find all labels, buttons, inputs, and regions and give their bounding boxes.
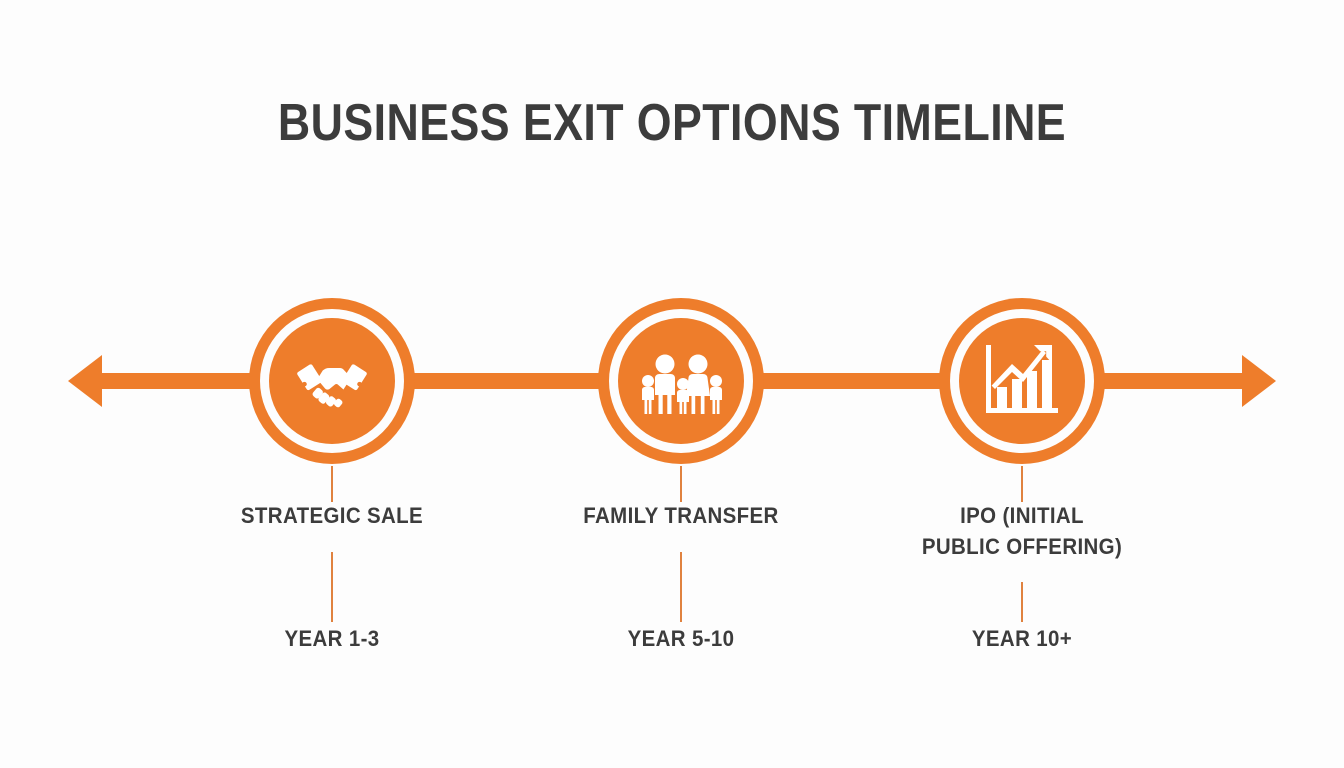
milestone-strategic-sale[interactable]: STRATEGIC SALE YEAR 1-3: [172, 0, 492, 768]
circle-gap-ring: [260, 309, 404, 453]
growth-chart-icon: [982, 343, 1062, 419]
milestone-label: STRATEGIC SALE: [183, 500, 481, 531]
milestone-ipo[interactable]: IPO (INITIAL PUBLIC OFFERING) YEAR 10+: [862, 0, 1182, 768]
circle-inner-disc: [269, 318, 395, 444]
circle-gap-ring: [950, 309, 1094, 453]
connector-circle-to-label: [331, 466, 333, 502]
connector-label-to-year: [331, 552, 333, 622]
milestone-year: YEAR 1-3: [183, 624, 481, 654]
connector-label-to-year: [1021, 582, 1023, 622]
milestone-label-line2: PUBLIC OFFERING): [922, 534, 1122, 559]
connector-circle-to-label: [680, 466, 682, 502]
milestone-circle[interactable]: [598, 298, 764, 464]
circle-gap-ring: [609, 309, 753, 453]
connector-label-to-year: [680, 552, 682, 622]
connector-circle-to-label: [1021, 466, 1023, 502]
milestone-year: YEAR 5-10: [532, 624, 830, 654]
circle-inner-disc: [959, 318, 1085, 444]
milestone-year: YEAR 10+: [873, 624, 1171, 654]
milestone-circle[interactable]: [939, 298, 1105, 464]
milestone-label-line1: IPO (INITIAL: [960, 503, 1084, 528]
circle-inner-disc: [618, 318, 744, 444]
milestone-family-transfer[interactable]: FAMILY TRANSFER YEAR 5-10: [521, 0, 841, 768]
milestone-circle[interactable]: [249, 298, 415, 464]
milestone-label: IPO (INITIAL PUBLIC OFFERING): [873, 500, 1171, 562]
family-icon: [639, 344, 723, 418]
arrow-left-icon: [68, 355, 102, 407]
handshake-icon: [293, 342, 371, 420]
milestone-label: FAMILY TRANSFER: [532, 500, 830, 531]
timeline-infographic: BUSINESS EXIT OPTIONS TIMELINE: [0, 0, 1344, 768]
arrow-right-icon: [1242, 355, 1276, 407]
